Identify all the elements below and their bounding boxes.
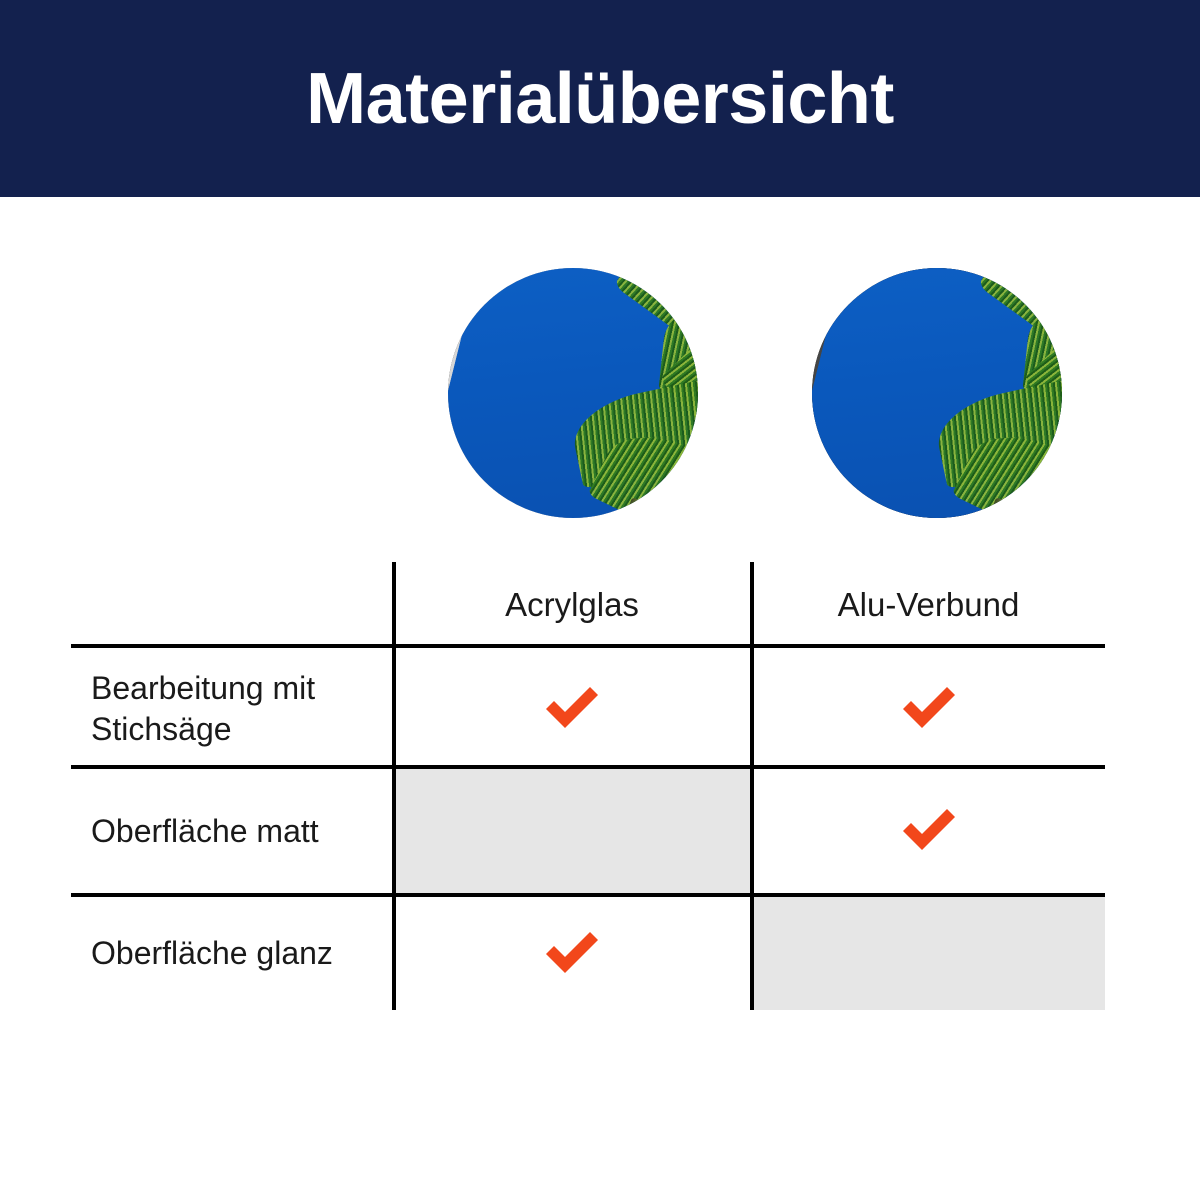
cell-glanz-acrylglas [394,897,750,1010]
panel-photo-face [448,268,698,518]
acrylglas-panel-illustration [448,268,698,518]
row-label-bearbeitung-mit-stichsaege: Bearbeitung mit Stichsäge [91,653,391,765]
acrylglas-thumbnail[interactable] [448,268,698,518]
checkmark-icon [541,929,603,979]
cell-matt-alu-verbund [752,769,1105,893]
page-header: Materialübersicht [0,0,1200,197]
unavailable-cell-matt-acrylglas [394,769,750,893]
checkmark-icon [898,806,960,856]
page-title: Materialübersicht [306,63,894,135]
column-header-acrylglas: Acrylglas [394,572,750,638]
alu-verbund-panel-illustration [812,268,1062,518]
checkmark-icon [898,684,960,734]
cell-stichsaege-acrylglas [394,653,750,765]
unavailable-cell-glanz-alu-verbund [752,897,1105,1010]
checkmark-icon [541,684,603,734]
row-label-oberflaeche-glanz: Oberfläche glanz [91,897,391,1010]
column-header-alu-verbund: Alu-Verbund [752,572,1105,638]
material-thumbnail-row [0,268,1200,520]
row-label-oberflaeche-matt: Oberfläche matt [91,769,391,893]
panel-photo-face [812,268,1062,518]
material-comparison-table: Acrylglas Alu-Verbund Bearbeitung mit St… [71,560,1105,1010]
alu-verbund-thumbnail[interactable] [812,268,1062,518]
table-header-divider [71,644,1105,648]
cell-stichsaege-alu-verbund [752,653,1105,765]
